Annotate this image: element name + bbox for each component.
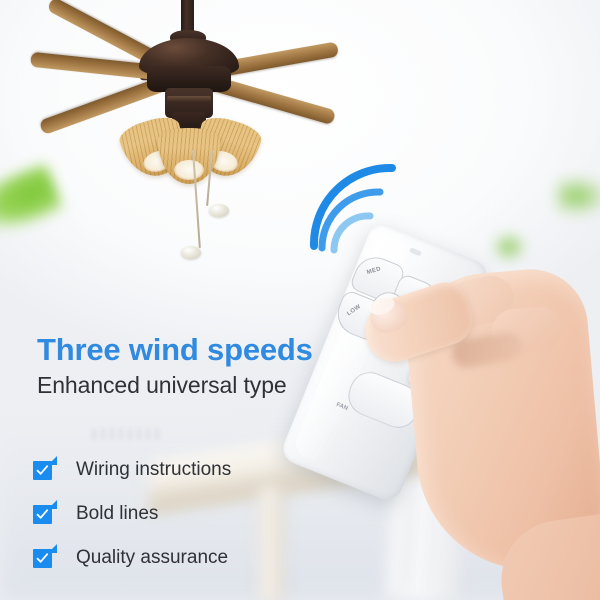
pull-chain-finial (181, 246, 201, 259)
feature-label: Wiring instructions (76, 459, 231, 481)
fan-switch-band (167, 96, 211, 102)
feature-label: Quality assurance (76, 547, 228, 569)
page-subtitle: Enhanced universal type (37, 372, 287, 399)
list-item: Wiring instructions (33, 448, 363, 492)
feature-label: Bold lines (76, 503, 158, 525)
list-item: Bold lines (33, 492, 363, 536)
feature-list: Wiring instructions Bold lines Quality a… (33, 448, 363, 580)
checkbox-checked-icon (33, 505, 52, 524)
page-title: Three wind speeds (37, 332, 313, 368)
background-detail (92, 428, 164, 440)
list-item: Quality assurance (33, 536, 363, 580)
checkbox-checked-icon (33, 549, 52, 568)
checkbox-checked-icon (33, 461, 52, 480)
green-leaf-icon (556, 176, 600, 216)
ir-emitter (409, 247, 422, 256)
pull-chain-finial (209, 204, 229, 217)
promo-banner: MED HI LOW STOP LIGHT ON/OFF FAN Three w… (0, 0, 600, 600)
